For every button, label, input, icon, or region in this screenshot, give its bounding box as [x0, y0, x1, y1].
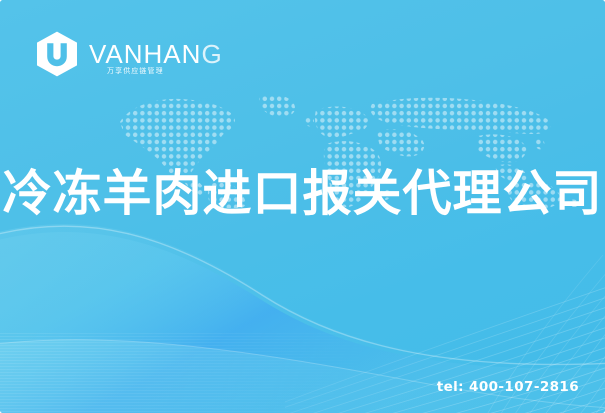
promo-banner: VANHANG 万享供应链管理 冷冻羊肉进口报关代理公司 tel: 400-10… [0, 0, 605, 413]
wordmark-main: VANHAN [89, 39, 201, 69]
vanhang-hexagon-icon [34, 30, 80, 78]
brand-subtitle: 万享供应链管理 [107, 68, 164, 75]
brand-wordmark-text: VANHANG [89, 41, 223, 67]
secondary-wave-graphic [0, 300, 605, 413]
wordmark-tail: G [201, 39, 222, 69]
contact-phone: tel: 400-107-2816 [437, 379, 579, 395]
brand-wordmark: VANHANG 万享供应链管理 [89, 30, 223, 78]
brand-logo[interactable]: VANHANG 万享供应链管理 [34, 30, 223, 78]
page-title: 冷冻羊肉进口报关代理公司 [0, 168, 605, 221]
